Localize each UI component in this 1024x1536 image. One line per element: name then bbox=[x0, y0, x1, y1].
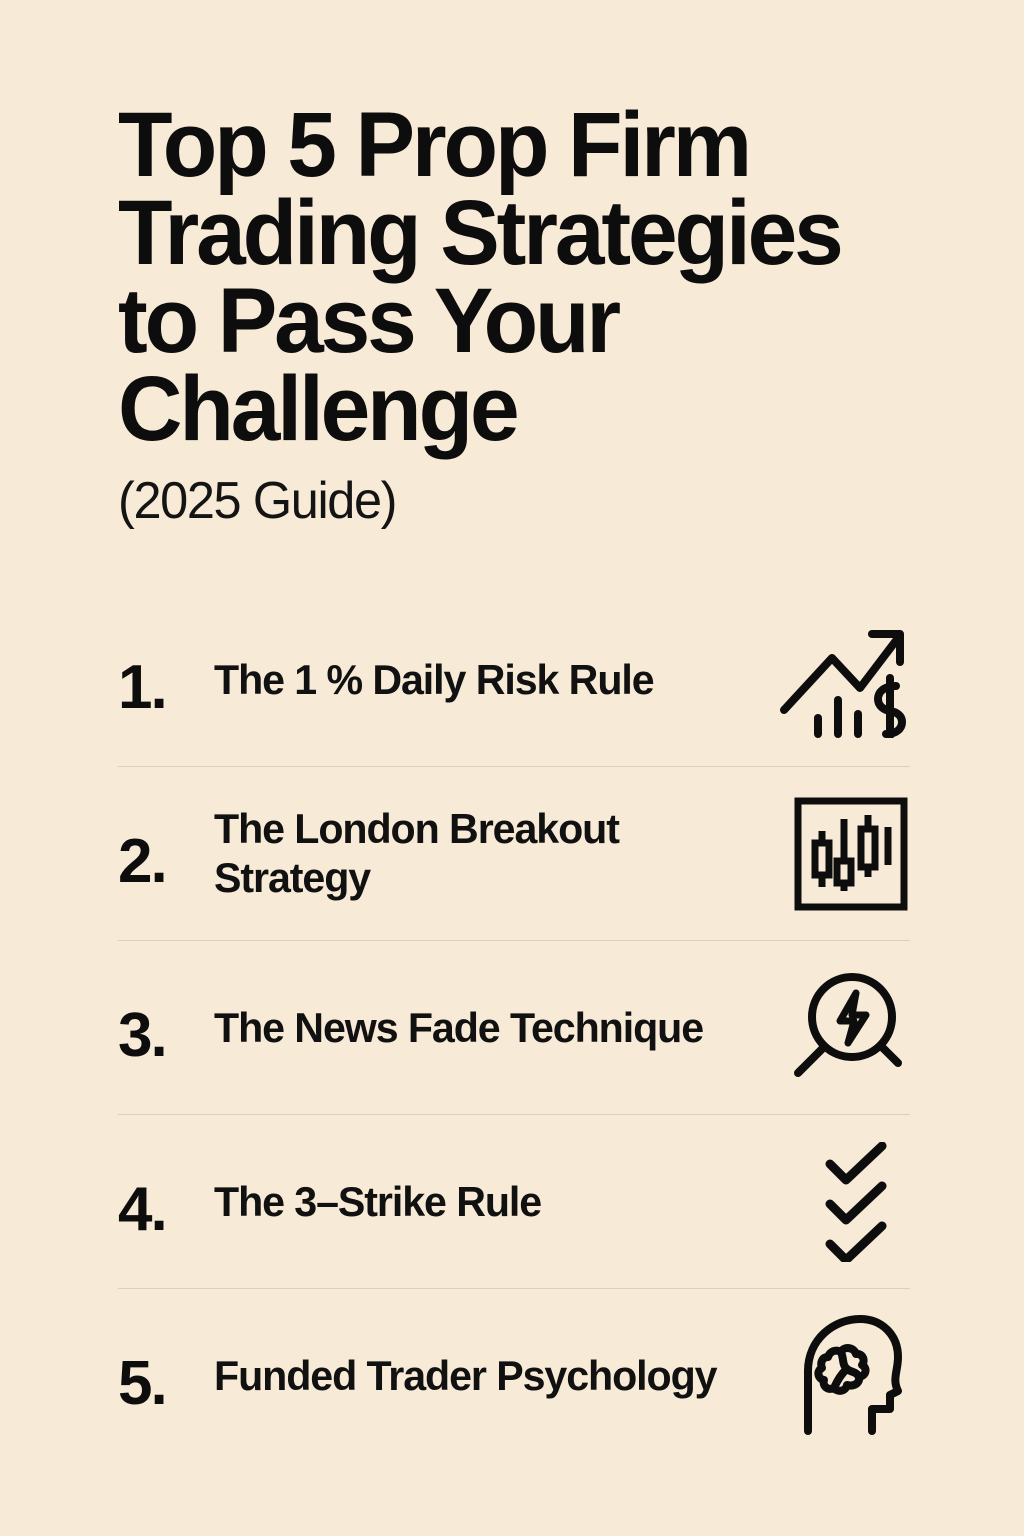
poster-header: Top 5 Prop Firm Trading Strategies to Pa… bbox=[0, 0, 1024, 531]
infographic-poster: Top 5 Prop Firm Trading Strategies to Pa… bbox=[0, 0, 1024, 1536]
list-item: 4. The 3–Strike Rule bbox=[118, 1115, 910, 1289]
growth-chart-dollar-icon bbox=[770, 618, 910, 742]
list-item-label: The News Fade Technique bbox=[214, 1004, 759, 1053]
candlestick-chart-icon bbox=[770, 792, 910, 916]
list-item-label: The 3–Strike Rule bbox=[214, 1178, 759, 1227]
list-item-label: Funded Trader Psychology bbox=[214, 1352, 759, 1401]
list-item-rank: 3. bbox=[118, 989, 214, 1067]
list-item-label: The London Breakout Strategy bbox=[214, 805, 759, 902]
triple-checkmark-icon bbox=[770, 1140, 910, 1264]
list-item-rank: 2. bbox=[118, 815, 214, 893]
list-item: 3. The News Fade Technique bbox=[118, 941, 910, 1115]
page-title: Top 5 Prop Firm Trading Strategies to Pa… bbox=[118, 102, 894, 453]
list-item-rank: 5. bbox=[118, 1337, 214, 1415]
list-item-rank: 4. bbox=[118, 1163, 214, 1241]
page-subtitle: (2025 Guide) bbox=[118, 471, 900, 531]
list-item: 2. The London Breakout Strategy bbox=[118, 767, 910, 941]
list-item: 1. The 1 % Daily Risk Rule bbox=[118, 593, 910, 767]
list-item: 5. Funded Trader Psychology bbox=[118, 1289, 910, 1463]
head-brain-icon bbox=[770, 1314, 910, 1438]
magnifier-lightning-icon bbox=[770, 966, 910, 1090]
list-item-label: The 1 % Daily Risk Rule bbox=[214, 656, 759, 705]
list-item-rank: 1. bbox=[118, 641, 214, 719]
strategy-list: 1. The 1 % Daily Risk Rule 2. T bbox=[0, 593, 1024, 1536]
